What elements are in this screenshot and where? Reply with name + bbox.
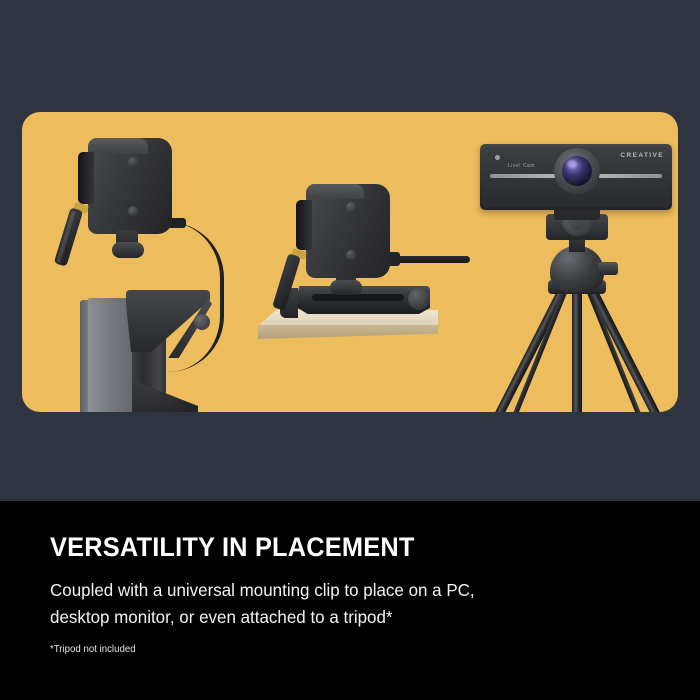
feature-description-line-2: desktop monitor, or even attached to a t…: [50, 607, 393, 627]
webcam-model-label: Live! Cam: [508, 163, 535, 169]
feature-title: VERSATILITY IN PLACEMENT: [50, 534, 415, 561]
usb-cable-desk: [388, 256, 470, 263]
tripod-leg-left-inner: [511, 289, 567, 412]
webcam-screw-lower: [128, 206, 138, 216]
caption-section: VERSATILITY IN PLACEMENT Coupled with a …: [0, 501, 700, 700]
tripod-leg-right: [588, 288, 660, 412]
webcam-clip-knob: [408, 288, 430, 310]
feature-footnote: *Tripod not included: [50, 643, 136, 655]
scene-webcam-on-tripod: Live! Cam CREATIVE: [462, 122, 678, 412]
webcam-status-led: [495, 155, 500, 160]
product-feature-slide: Live! Cam CREATIVE VERSATILITY IN PLACEM…: [0, 0, 700, 700]
webcam-hinge-desk: [330, 280, 362, 295]
usb-cable: [168, 222, 224, 372]
tripod-ball-head: [550, 246, 604, 292]
webcam-body-top: [88, 138, 148, 154]
webcam-body-top-desk: [306, 184, 364, 199]
illustration-panel: Live! Cam CREATIVE: [22, 112, 678, 412]
webcam-lens: [562, 156, 592, 186]
tripod-leg-center: [572, 290, 582, 412]
scene-webcam-on-desk: [258, 170, 468, 370]
feature-description-line-1: Coupled with a universal mounting clip t…: [50, 580, 475, 600]
webcam-clip-foot-slot: [312, 294, 404, 301]
tripod-lock-knob: [598, 262, 618, 275]
tripod-leg-right-inner: [586, 289, 642, 412]
desk-edge: [258, 325, 438, 339]
webcam-screw-upper-desk: [346, 202, 356, 212]
webcam-hinge: [112, 242, 144, 258]
webcam-brand-logo: CREATIVE: [620, 152, 664, 159]
hero-section: Live! Cam CREATIVE: [0, 0, 700, 501]
feature-description: Coupled with a universal mounting clip t…: [50, 577, 535, 630]
webcam-lens-highlight: [567, 160, 577, 168]
scene-webcam-on-monitor: [40, 130, 240, 412]
webcam-side-edge: [78, 152, 94, 204]
webcam-screw-upper: [128, 157, 138, 167]
webcam-side-edge-desk: [296, 200, 312, 250]
webcam-screw-lower-desk: [346, 250, 356, 260]
